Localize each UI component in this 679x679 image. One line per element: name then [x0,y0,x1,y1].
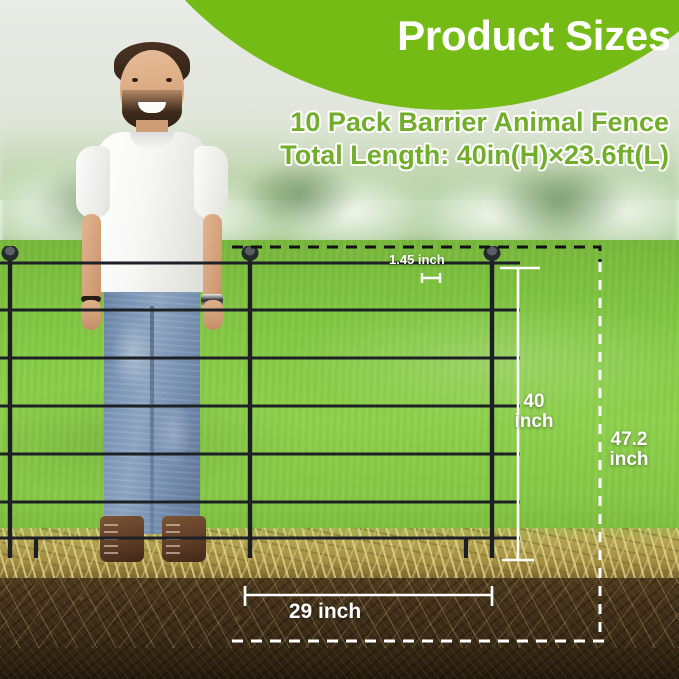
fence-height-value: 40 [508,392,560,412]
page-title: Product Sizes [331,15,671,57]
person-eye-right [166,78,172,82]
panel-width-label: 29 inch [289,601,361,623]
person-eye-left [132,78,138,82]
mesh-spacing-label: 1.45 inch [389,253,445,267]
fence-height-label: 40 inch [508,392,560,432]
total-height-unit: inch [598,450,660,470]
subtitle-line-2: Total Length: 40in(H)×23.6ft(L) [0,139,669,172]
fence-panels [0,246,520,558]
total-height-label: 47.2 inch [598,430,660,470]
subtitle-line-1: 10 Pack Barrier Animal Fence [0,106,669,139]
fence-height-unit: inch [508,412,560,432]
product-subtitle: 10 Pack Barrier Animal Fence Total Lengt… [0,106,679,172]
total-height-value: 47.2 [598,430,660,450]
product-size-infographic: 1.45 inch 40 inch 47.2 inch 29 inch 10 P… [0,0,679,679]
